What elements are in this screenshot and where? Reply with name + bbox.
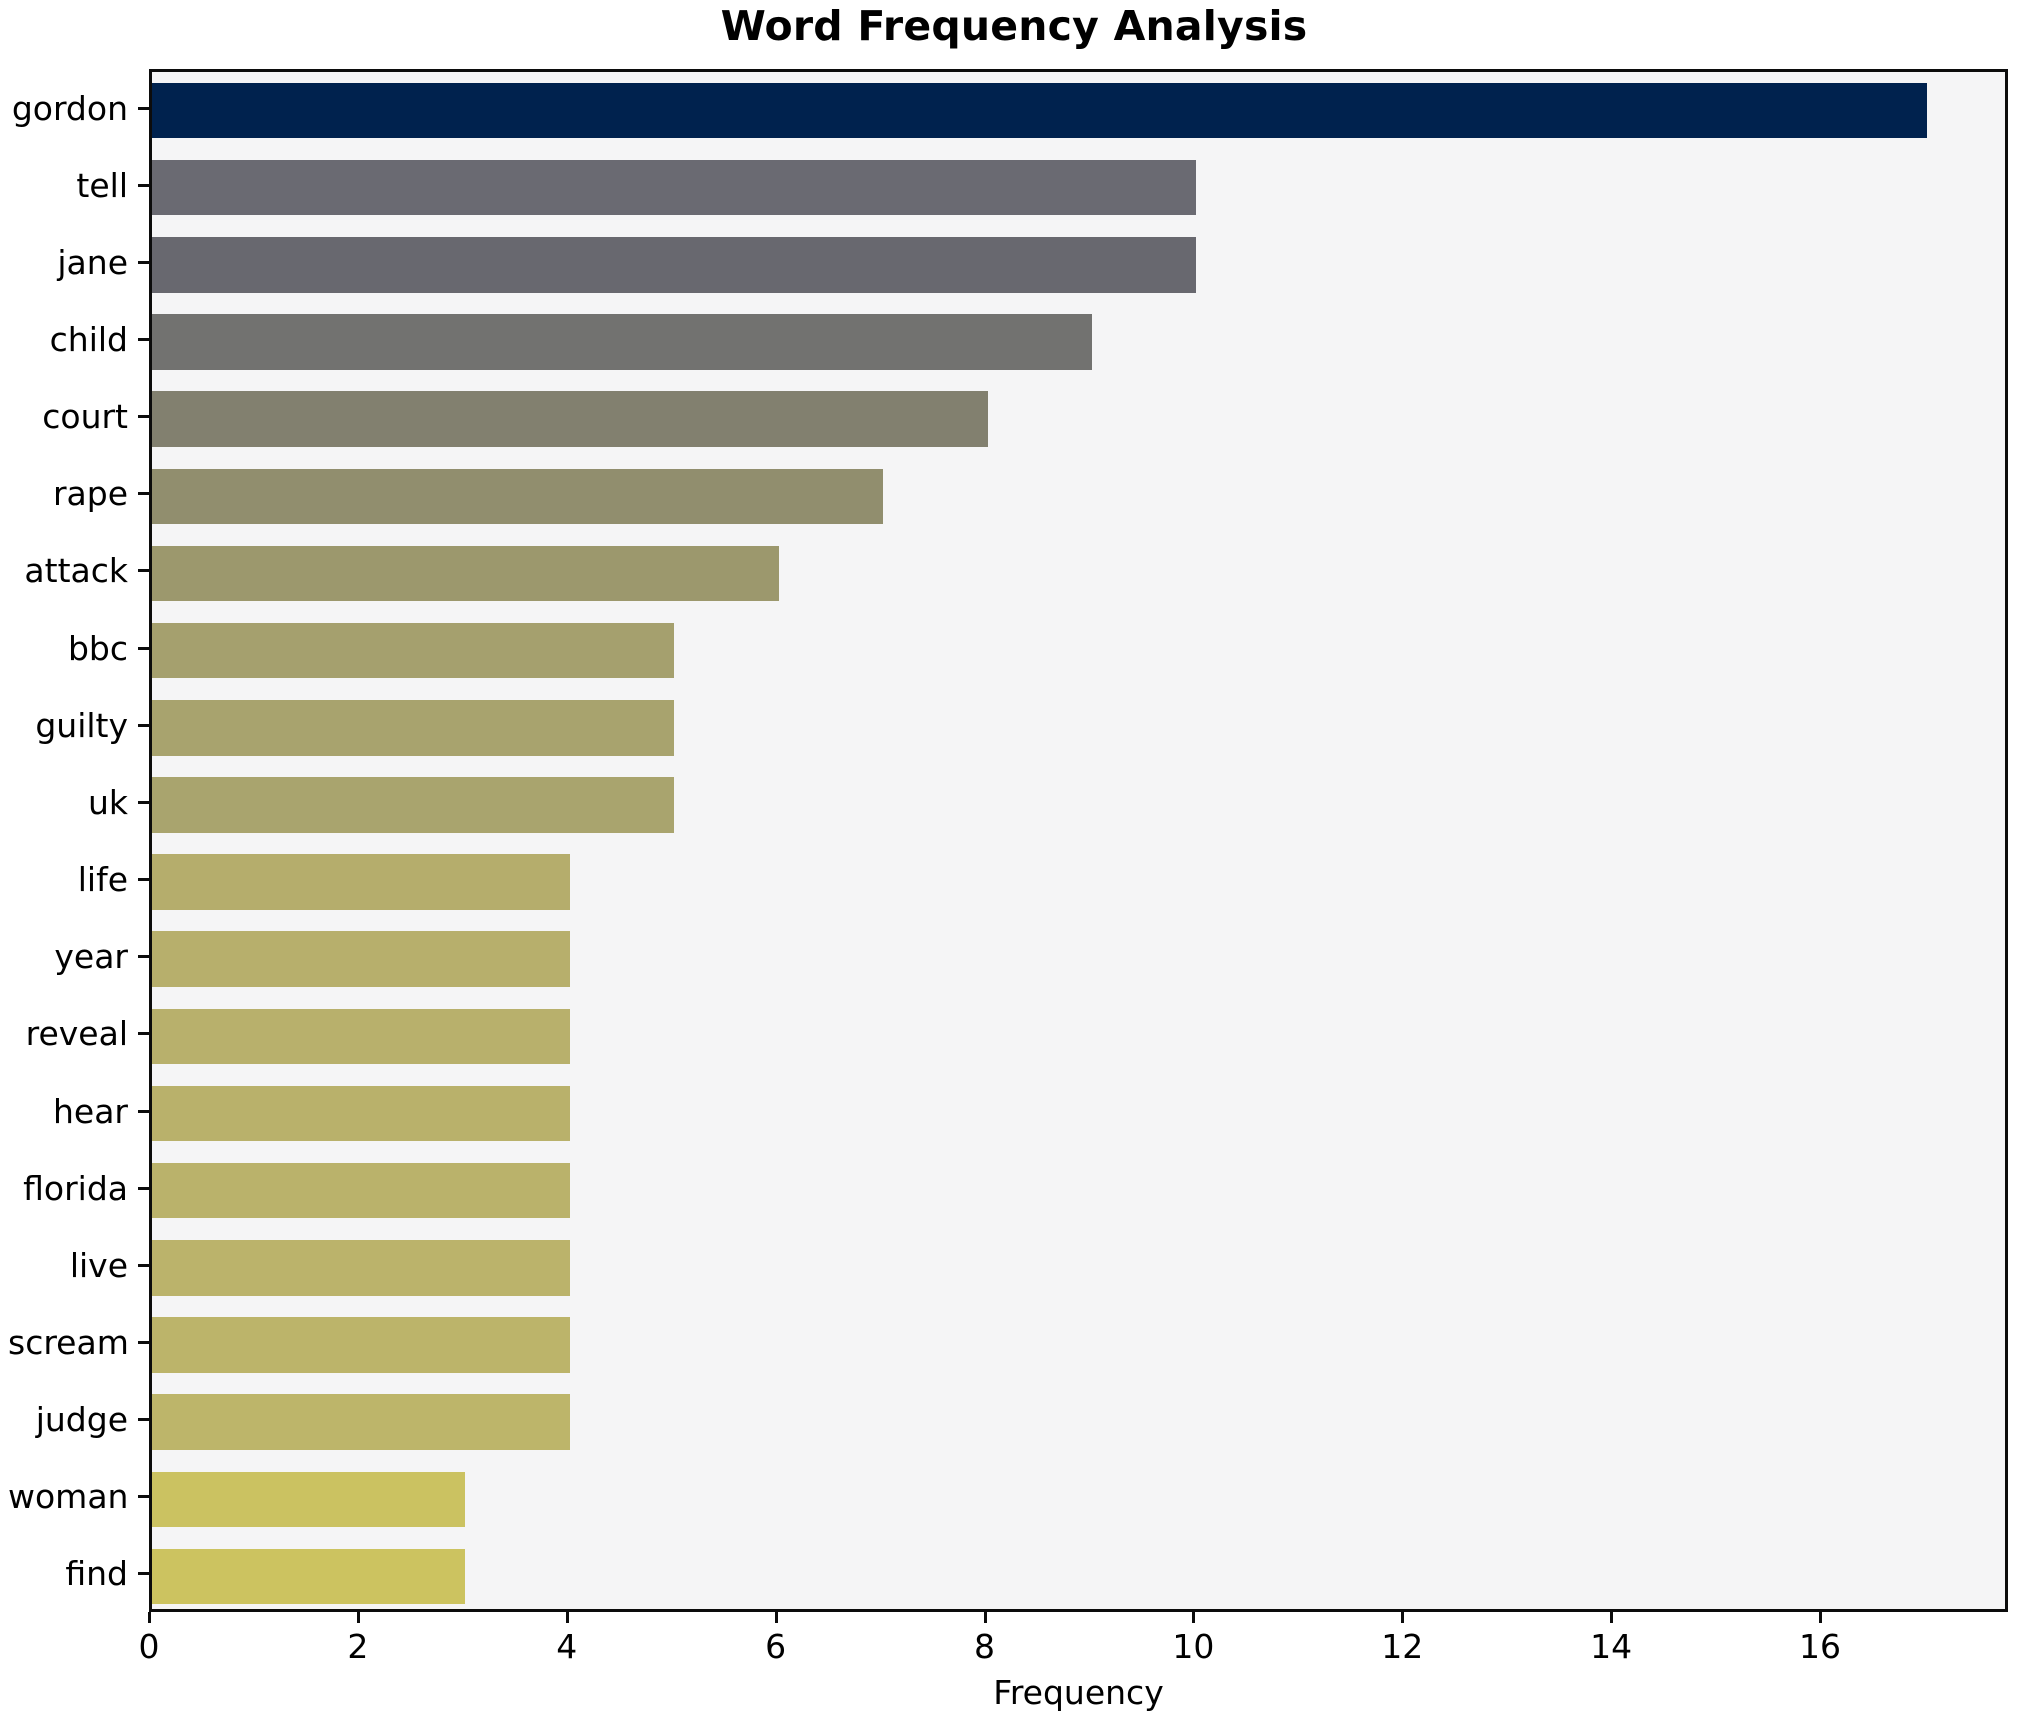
y-tick-label-tell: tell bbox=[8, 169, 128, 202]
y-tick-label-attack: attack bbox=[8, 554, 128, 587]
y-tick-label-guilty: guilty bbox=[8, 709, 128, 742]
x-tick-mark bbox=[566, 1612, 569, 1623]
bar-row bbox=[152, 314, 2005, 370]
x-tick-label-6: 6 bbox=[736, 1630, 816, 1663]
bar-row bbox=[152, 83, 2005, 139]
y-tick-label-scream: scream bbox=[8, 1326, 128, 1359]
x-axis-label: Frequency bbox=[149, 1676, 2008, 1709]
bar-rape bbox=[152, 469, 883, 525]
bar-jane bbox=[152, 237, 1196, 293]
y-tick-mark bbox=[138, 492, 149, 495]
y-tick-label-find: find bbox=[8, 1557, 128, 1590]
bar-row bbox=[152, 777, 2005, 833]
y-tick-mark bbox=[138, 1495, 149, 1498]
y-tick-mark bbox=[138, 338, 149, 341]
plot-area bbox=[149, 69, 2008, 1612]
y-tick-mark bbox=[138, 1032, 149, 1035]
bar-gordon bbox=[152, 83, 1927, 139]
y-tick-label-court: court bbox=[8, 400, 128, 433]
bar-guilty bbox=[152, 700, 674, 756]
x-tick-mark bbox=[984, 1612, 987, 1623]
y-tick-mark bbox=[138, 1418, 149, 1421]
bar-row bbox=[152, 391, 2005, 447]
bar-row bbox=[152, 1009, 2005, 1065]
y-tick-mark bbox=[138, 569, 149, 572]
x-tick-mark bbox=[148, 1612, 151, 1623]
y-tick-mark bbox=[138, 1110, 149, 1113]
y-tick-mark bbox=[138, 1264, 149, 1267]
bar-live bbox=[152, 1240, 570, 1296]
y-tick-mark bbox=[138, 801, 149, 804]
chart-title: Word Frequency Analysis bbox=[0, 2, 2028, 50]
y-tick-label-life: life bbox=[8, 863, 128, 896]
x-tick-mark bbox=[775, 1612, 778, 1623]
bar-row bbox=[152, 1472, 2005, 1528]
bar-row bbox=[152, 1240, 2005, 1296]
y-tick-label-child: child bbox=[8, 323, 128, 356]
x-tick-label-4: 4 bbox=[527, 1630, 607, 1663]
bar-row bbox=[152, 160, 2005, 216]
bar-child bbox=[152, 314, 1092, 370]
y-tick-label-florida: florida bbox=[8, 1172, 128, 1205]
bar-hear bbox=[152, 1086, 570, 1142]
y-tick-mark bbox=[138, 647, 149, 650]
x-tick-mark bbox=[1401, 1612, 1404, 1623]
y-tick-label-uk: uk bbox=[8, 786, 128, 819]
y-tick-mark bbox=[138, 1572, 149, 1575]
y-tick-mark bbox=[138, 261, 149, 264]
bar-uk bbox=[152, 777, 674, 833]
x-tick-mark bbox=[357, 1612, 360, 1623]
x-tick-mark bbox=[1192, 1612, 1195, 1623]
bar-row bbox=[152, 546, 2005, 602]
y-tick-label-bbc: bbc bbox=[8, 632, 128, 665]
bar-row bbox=[152, 237, 2005, 293]
bar-year bbox=[152, 931, 570, 987]
bar-row bbox=[152, 469, 2005, 525]
y-tick-label-year: year bbox=[8, 940, 128, 973]
x-tick-mark bbox=[1610, 1612, 1613, 1623]
bar-row bbox=[152, 1317, 2005, 1373]
bar-bbc bbox=[152, 623, 674, 679]
bar-row bbox=[152, 1394, 2005, 1450]
bar-row bbox=[152, 1549, 2005, 1605]
y-tick-label-live: live bbox=[8, 1249, 128, 1282]
bar-life bbox=[152, 854, 570, 910]
bar-row bbox=[152, 1086, 2005, 1142]
y-tick-mark bbox=[138, 878, 149, 881]
y-tick-label-judge: judge bbox=[8, 1403, 128, 1436]
x-tick-label-10: 10 bbox=[1153, 1630, 1233, 1663]
x-tick-label-14: 14 bbox=[1571, 1630, 1651, 1663]
x-tick-label-8: 8 bbox=[945, 1630, 1025, 1663]
bar-scream bbox=[152, 1317, 570, 1373]
x-tick-mark bbox=[1819, 1612, 1822, 1623]
bar-row bbox=[152, 700, 2005, 756]
y-tick-label-rape: rape bbox=[8, 477, 128, 510]
y-tick-mark bbox=[138, 107, 149, 110]
bar-attack bbox=[152, 546, 779, 602]
bar-row bbox=[152, 931, 2005, 987]
bar-judge bbox=[152, 1394, 570, 1450]
x-tick-label-16: 16 bbox=[1780, 1630, 1860, 1663]
y-tick-mark bbox=[138, 415, 149, 418]
bar-row bbox=[152, 623, 2005, 679]
bar-row bbox=[152, 854, 2005, 910]
y-tick-label-jane: jane bbox=[8, 246, 128, 279]
bar-woman bbox=[152, 1472, 465, 1528]
bar-reveal bbox=[152, 1009, 570, 1065]
y-tick-label-woman: woman bbox=[8, 1480, 128, 1513]
y-tick-mark bbox=[138, 184, 149, 187]
y-tick-label-gordon: gordon bbox=[8, 92, 128, 125]
y-tick-mark bbox=[138, 1187, 149, 1190]
y-tick-label-hear: hear bbox=[8, 1095, 128, 1128]
y-tick-mark bbox=[138, 1341, 149, 1344]
bars-layer bbox=[152, 72, 2005, 1609]
y-tick-label-reveal: reveal bbox=[8, 1017, 128, 1050]
y-tick-mark bbox=[138, 955, 149, 958]
figure-canvas: Word Frequency Analysis gordontelljanech… bbox=[0, 0, 2028, 1722]
bar-row bbox=[152, 1163, 2005, 1219]
bar-tell bbox=[152, 160, 1196, 216]
bar-court bbox=[152, 391, 988, 447]
bar-find bbox=[152, 1549, 465, 1605]
x-tick-label-12: 12 bbox=[1362, 1630, 1442, 1663]
x-tick-label-2: 2 bbox=[318, 1630, 398, 1663]
y-tick-mark bbox=[138, 724, 149, 727]
bar-florida bbox=[152, 1163, 570, 1219]
x-tick-label-0: 0 bbox=[109, 1630, 189, 1663]
